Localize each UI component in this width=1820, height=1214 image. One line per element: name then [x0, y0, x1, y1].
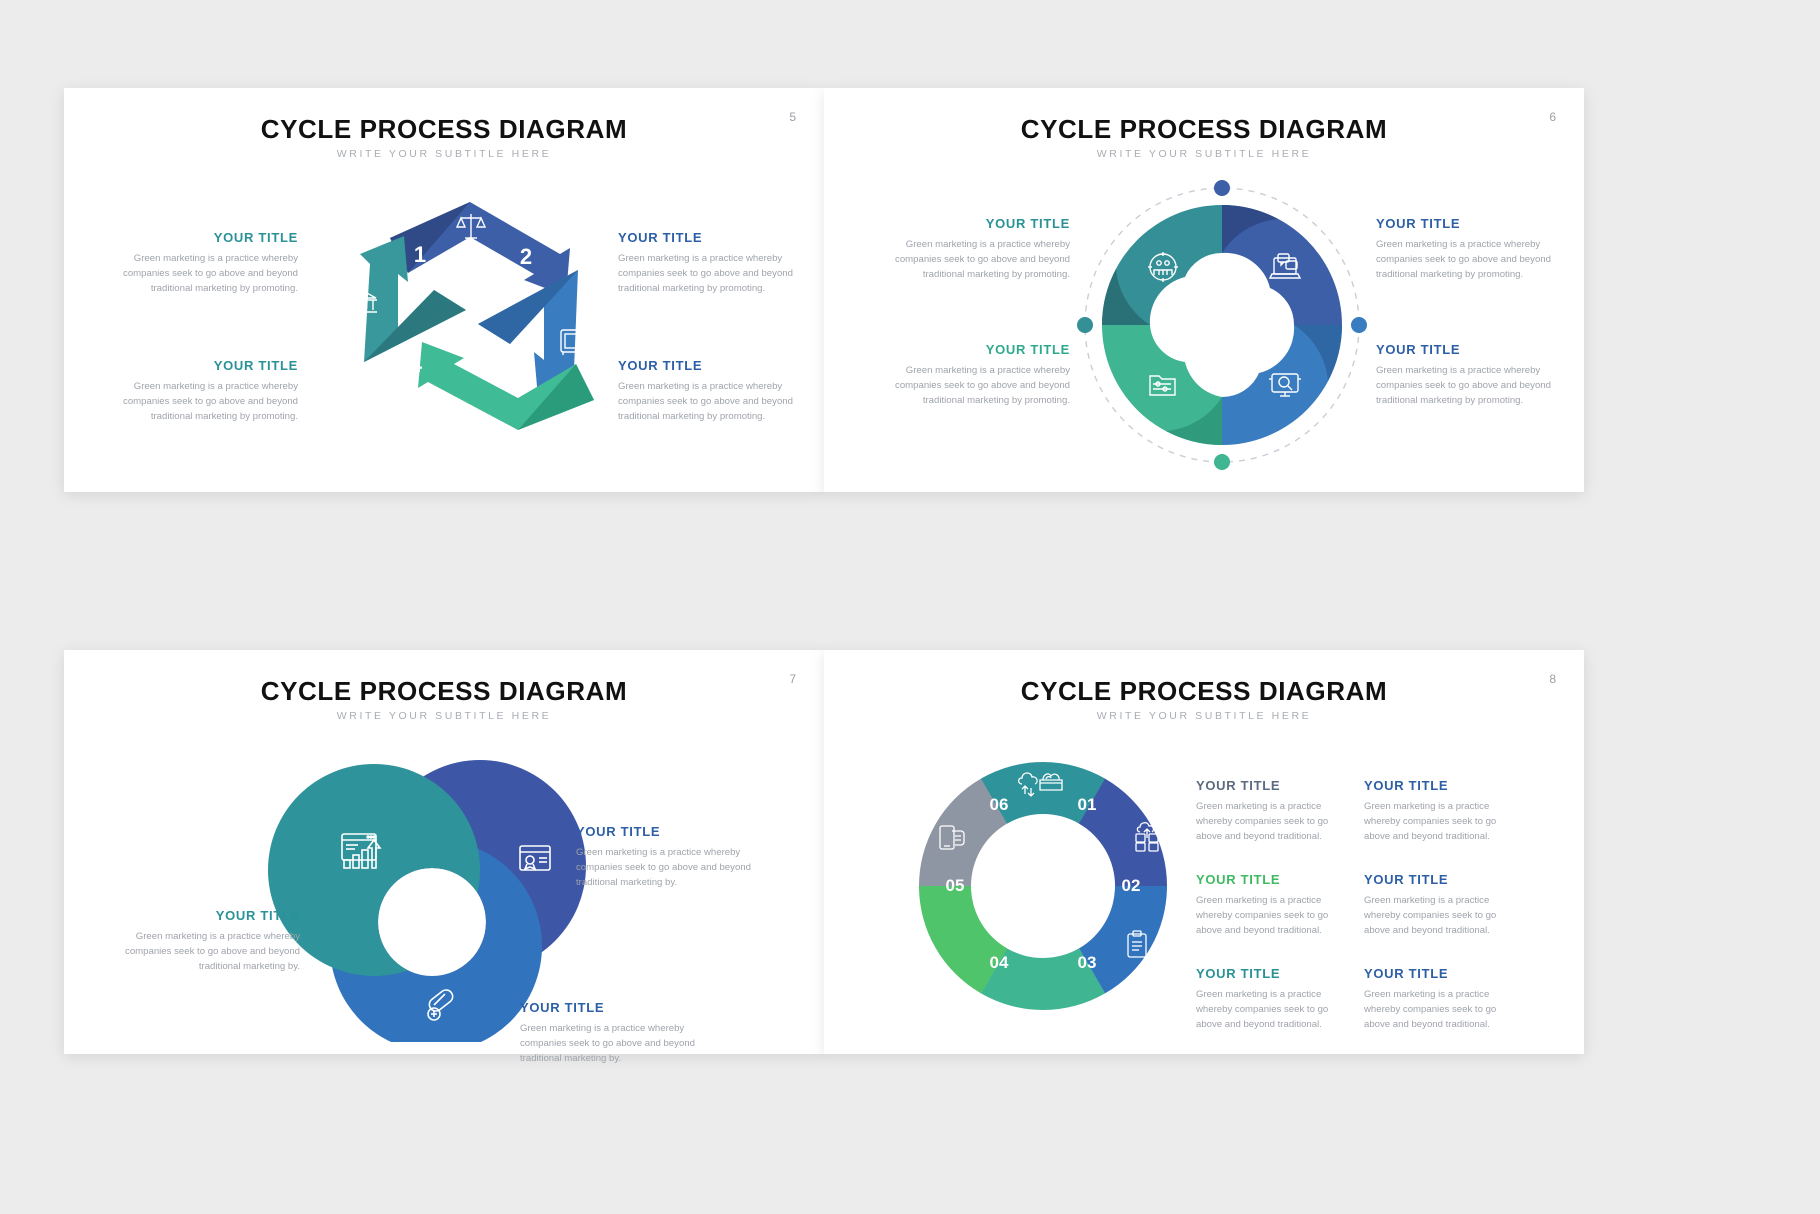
block-title: YOUR TITLE: [108, 358, 298, 373]
block-title: YOUR TITLE: [1376, 216, 1576, 231]
text-block-5: YOUR TITLE Green marketing is a practice…: [1196, 966, 1346, 1033]
step-number-2: 2: [520, 244, 532, 269]
slide-8[interactable]: CYCLE PROCESS DIAGRAM WRITE YOUR SUBTITL…: [824, 650, 1584, 1054]
slide-deck: CYCLE PROCESS DIAGRAM WRITE YOUR SUBTITL…: [0, 0, 1820, 1214]
block-body: Green marketing is a practice whereby co…: [1196, 988, 1346, 1033]
four-arrow-pinwheel-diagram: 1 2 3 4: [342, 192, 602, 470]
block-body: Green marketing is a practice whereby co…: [1364, 894, 1514, 939]
text-block-4: YOUR TITLE Green marketing is a practice…: [870, 342, 1070, 409]
orbit-dot-left[interactable]: [1077, 317, 1093, 333]
block-title: YOUR TITLE: [1196, 778, 1346, 793]
blade-segment-2[interactable]: [1222, 205, 1342, 325]
block-body: Green marketing is a practice whereby co…: [1364, 988, 1514, 1033]
block-body: Green marketing is a practice whereby co…: [576, 846, 776, 891]
page-subtitle: WRITE YOUR SUBTITLE HERE: [64, 148, 824, 160]
slide-7[interactable]: CYCLE PROCESS DIAGRAM WRITE YOUR SUBTITL…: [64, 650, 824, 1054]
block-title: YOUR TITLE: [1364, 778, 1514, 793]
block-title: YOUR TITLE: [1364, 872, 1514, 887]
orbit-dot-right[interactable]: [1351, 317, 1367, 333]
mobile-pay-icon: [452, 408, 473, 430]
svg-text:$: $: [362, 301, 367, 311]
block-body: Green marketing is a practice whereby co…: [108, 252, 298, 297]
slide-5[interactable]: CYCLE PROCESS DIAGRAM WRITE YOUR SUBTITL…: [64, 88, 824, 492]
step-number-3: 3: [522, 352, 534, 377]
page-subtitle: WRITE YOUR SUBTITLE HERE: [824, 710, 1584, 722]
page-number: 7: [789, 672, 796, 686]
three-overlapping-rings-diagram: [256, 742, 616, 1042]
text-block-4: YOUR TITLE Green marketing is a practice…: [108, 358, 298, 425]
page-number: 6: [1549, 110, 1556, 124]
text-block-2: YOUR TITLE Green marketing is a practice…: [1364, 778, 1514, 845]
block-body: Green marketing is a practice whereby co…: [1376, 364, 1576, 409]
text-block-4: YOUR TITLE Green marketing is a practice…: [1364, 872, 1514, 939]
text-block-2: YOUR TITLE Green marketing is a practice…: [1376, 216, 1576, 283]
step-number-04: 04: [990, 953, 1009, 972]
page-title: CYCLE PROCESS DIAGRAM: [64, 676, 824, 707]
text-block-1: YOUR TITLE Green marketing is a practice…: [870, 216, 1070, 283]
block-title: YOUR TITLE: [108, 230, 298, 245]
block-title: YOUR TITLE: [520, 1000, 720, 1015]
text-block-3: YOUR TITLE Green marketing is a practice…: [520, 1000, 720, 1067]
page-subtitle: WRITE YOUR SUBTITLE HERE: [64, 710, 824, 722]
step-number-4: 4: [410, 352, 423, 377]
block-body: Green marketing is a practice whereby co…: [1364, 800, 1514, 845]
text-block-3: YOUR TITLE Green marketing is a practice…: [1376, 342, 1576, 409]
block-title: YOUR TITLE: [870, 342, 1070, 357]
text-block-1: YOUR TITLE Green marketing is a practice…: [1196, 778, 1346, 845]
text-block-6: YOUR TITLE Green marketing is a practice…: [1364, 966, 1514, 1033]
step-number-03: 03: [1078, 953, 1097, 972]
orbit-dot-top[interactable]: [1214, 180, 1230, 196]
step-number-05: 05: [946, 876, 965, 895]
text-block-1: YOUR TITLE Green marketing is a practice…: [108, 230, 298, 297]
block-body: Green marketing is a practice whereby co…: [618, 252, 808, 297]
page-title: CYCLE PROCESS DIAGRAM: [64, 114, 824, 145]
page-number: 8: [1549, 672, 1556, 686]
block-body: Green marketing is a practice whereby co…: [870, 364, 1070, 409]
page-title: CYCLE PROCESS DIAGRAM: [824, 676, 1584, 707]
block-body: Green marketing is a practice whereby co…: [100, 930, 300, 975]
pinwheel-blades: [1102, 205, 1342, 445]
block-body: Green marketing is a practice whereby co…: [618, 380, 808, 425]
text-block-1: YOUR TITLE Green marketing is a practice…: [100, 908, 300, 975]
page-subtitle: WRITE YOUR SUBTITLE HERE: [824, 148, 1584, 160]
text-block-2: YOUR TITLE Green marketing is a practice…: [576, 824, 776, 891]
block-body: Green marketing is a practice whereby co…: [1196, 894, 1346, 939]
text-block-3: YOUR TITLE Green marketing is a practice…: [618, 358, 808, 425]
disk-storage-icon: [1030, 934, 1056, 956]
block-title: YOUR TITLE: [100, 908, 300, 923]
block-title: YOUR TITLE: [870, 216, 1070, 231]
block-body: Green marketing is a practice whereby co…: [1376, 238, 1576, 283]
slide-6[interactable]: CYCLE PROCESS DIAGRAM WRITE YOUR SUBTITL…: [824, 88, 1584, 492]
step-number-01: 01: [1078, 795, 1097, 814]
block-title: YOUR TITLE: [1196, 966, 1346, 981]
block-title: YOUR TITLE: [1196, 872, 1346, 887]
block-body: Green marketing is a practice whereby co…: [870, 238, 1070, 283]
six-segment-cycle-diagram: 01 02 03 04 05 06: [908, 736, 1178, 1036]
page-title: CYCLE PROCESS DIAGRAM: [824, 114, 1584, 145]
text-block-2: YOUR TITLE Green marketing is a practice…: [618, 230, 808, 297]
block-title: YOUR TITLE: [1364, 966, 1514, 981]
step-number-1: 1: [414, 242, 426, 267]
orbit-dot-bottom[interactable]: [1214, 454, 1230, 470]
blade-segment-3[interactable]: [1222, 325, 1342, 445]
block-title: YOUR TITLE: [618, 358, 808, 373]
four-blade-pinwheel-diagram: [1082, 174, 1362, 472]
step-number-06: 06: [990, 795, 1009, 814]
block-body: Green marketing is a practice whereby co…: [108, 380, 298, 425]
blade-segment-1[interactable]: [1102, 205, 1222, 325]
block-title: YOUR TITLE: [576, 824, 776, 839]
text-block-3: YOUR TITLE Green marketing is a practice…: [1196, 872, 1346, 939]
block-body: Green marketing is a practice whereby co…: [1196, 800, 1346, 845]
page-number: 5: [789, 110, 796, 124]
step-number-02: 02: [1122, 876, 1141, 895]
block-body: Green marketing is a practice whereby co…: [520, 1022, 720, 1067]
blade-segment-4[interactable]: [1102, 325, 1222, 445]
block-title: YOUR TITLE: [618, 230, 808, 245]
block-title: YOUR TITLE: [1376, 342, 1576, 357]
